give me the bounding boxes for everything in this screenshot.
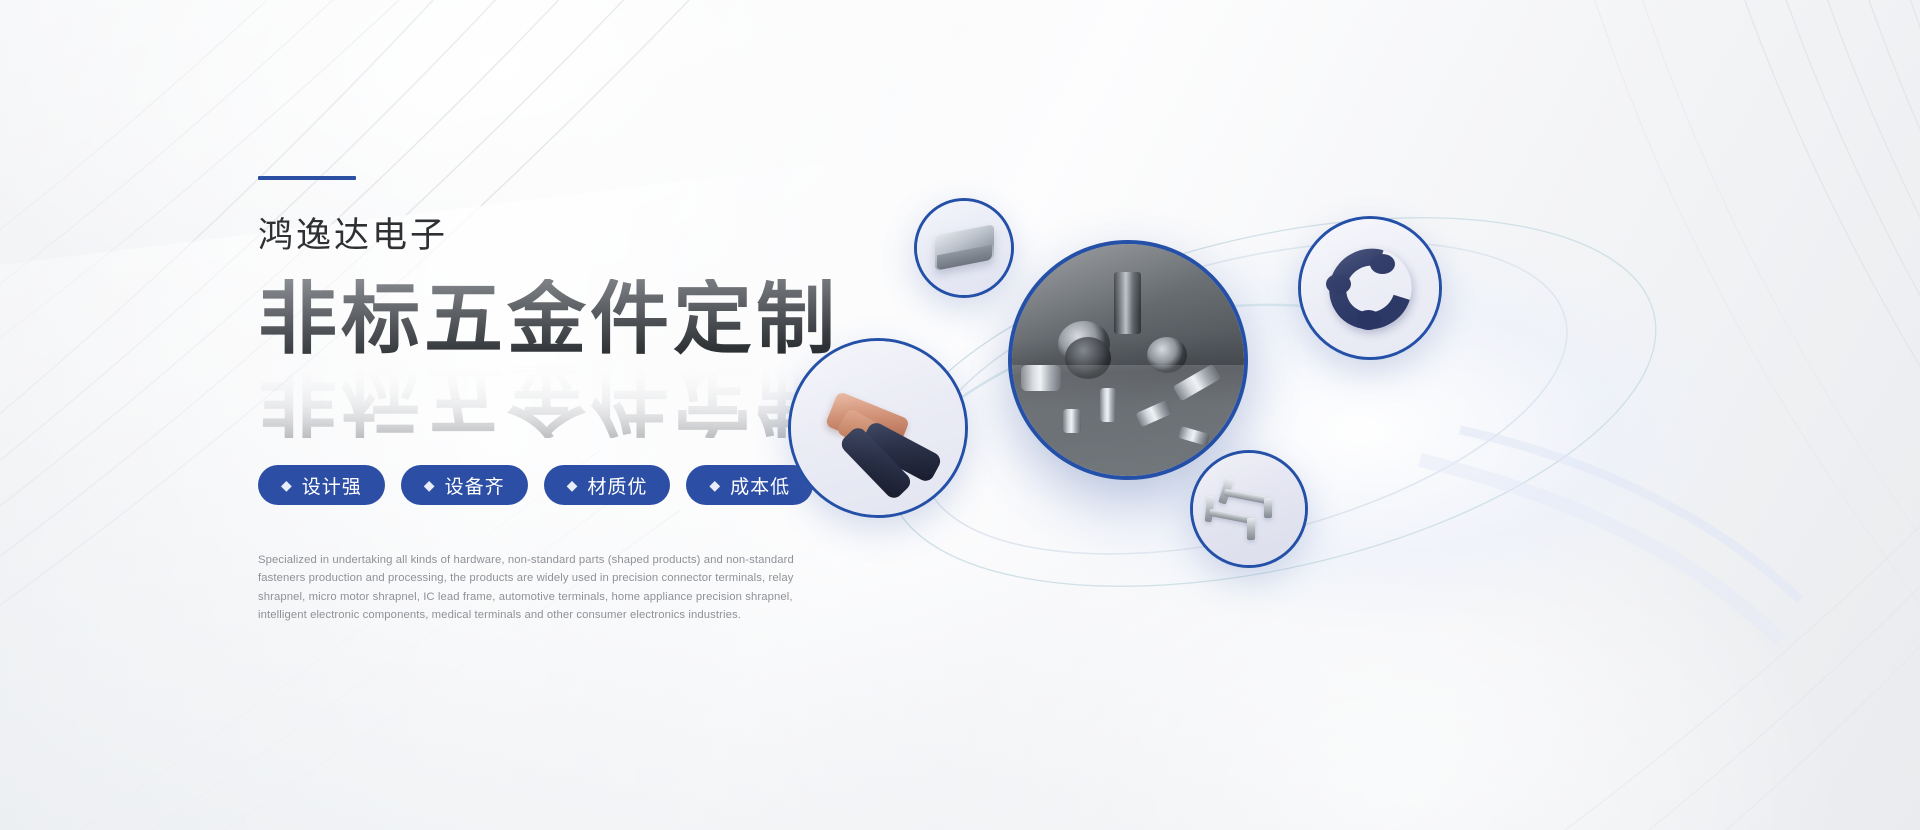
bent-terminal-pins-photo bbox=[1193, 453, 1305, 565]
diamond-icon: ◆ bbox=[567, 478, 579, 492]
feature-badge-label: 材质优 bbox=[587, 472, 647, 499]
company-description: Specialized in undertaking all kinds of … bbox=[258, 551, 818, 624]
part-elbow-fitting bbox=[1136, 400, 1173, 428]
bubble-bent-terminal-pins[interactable] bbox=[1190, 450, 1308, 568]
terminal-pin-lower-foot bbox=[1247, 518, 1255, 540]
feature-badge-equipment[interactable]: ◆ 设备齐 bbox=[401, 465, 528, 505]
battery-clamp-photo bbox=[791, 341, 965, 515]
part-pin-short bbox=[1100, 388, 1116, 422]
brand-name: 鸿逸达电子 bbox=[258, 218, 958, 253]
product-showcase bbox=[900, 130, 1860, 660]
diamond-icon: ◆ bbox=[281, 478, 293, 492]
bubble-retaining-clip[interactable] bbox=[1298, 216, 1442, 360]
diamond-icon: ◆ bbox=[424, 478, 436, 492]
headline-reflection: 非标五金件定制 bbox=[258, 359, 839, 438]
part-connector-left bbox=[1021, 365, 1061, 391]
part-small-ferrule bbox=[1063, 409, 1081, 433]
part-curved-clip bbox=[1178, 426, 1210, 446]
diamond-icon: ◆ bbox=[709, 478, 721, 492]
part-cylinder-tall bbox=[1114, 272, 1141, 334]
bubble-precision-metal-parts[interactable] bbox=[1008, 240, 1248, 480]
bubble-metal-enclosure-box[interactable] bbox=[914, 198, 1014, 298]
part-bracket-arm bbox=[1173, 364, 1221, 402]
feature-badge-design[interactable]: ◆ 设计强 bbox=[258, 465, 385, 505]
part-washer bbox=[1147, 337, 1187, 373]
retaining-clip-photo bbox=[1301, 219, 1439, 357]
hero-banner: 鸿逸达电子 非标五金件定制 非标五金件定制 ◆ 设计强 ◆ 设备齐 ◆ 材质优 … bbox=[0, 0, 1920, 830]
terminal-pin-upper-foot bbox=[1264, 498, 1272, 518]
clip-lug-top bbox=[1370, 254, 1395, 274]
accent-bar bbox=[258, 176, 356, 180]
feature-badge-label: 设备齐 bbox=[445, 472, 505, 499]
bubble-battery-clamp[interactable] bbox=[788, 338, 968, 518]
part-dark-bushing bbox=[1065, 337, 1111, 379]
feature-badge-label: 成本低 bbox=[730, 472, 790, 499]
feature-badge-material[interactable]: ◆ 材质优 bbox=[544, 465, 671, 505]
terminal-pin-upper-span bbox=[1224, 489, 1269, 504]
precision-metal-parts-photo bbox=[1012, 244, 1244, 476]
metal-enclosure-box-photo bbox=[917, 201, 1011, 295]
feature-badge-label: 设计强 bbox=[302, 472, 362, 499]
enclosure-body bbox=[935, 224, 994, 270]
clip-lug-left bbox=[1326, 274, 1351, 294]
